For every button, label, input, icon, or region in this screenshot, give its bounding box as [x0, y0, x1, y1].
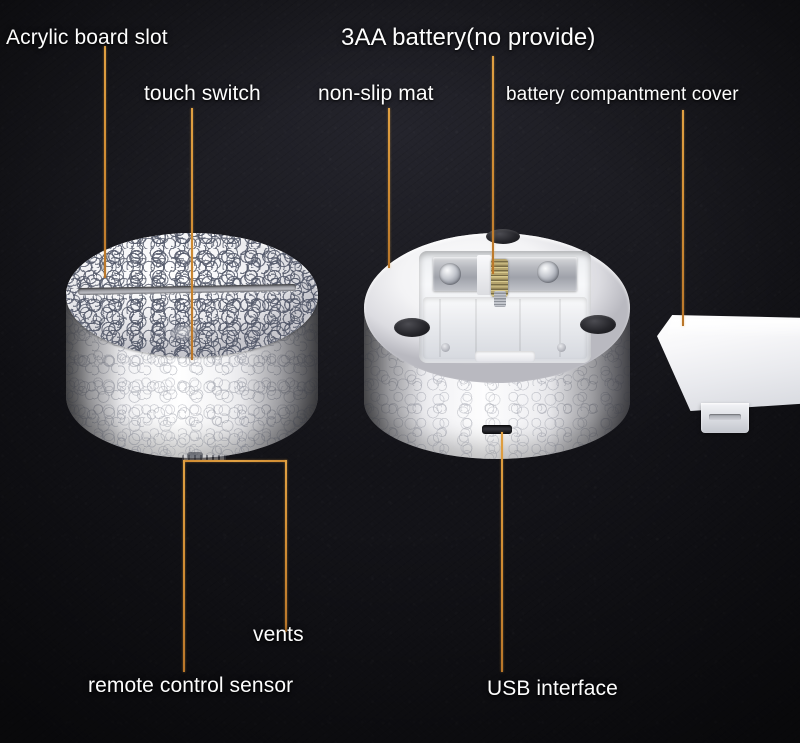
battery-compartment-cover-object [657, 315, 800, 455]
leader-line-vents [285, 460, 287, 632]
callout-label-remote-control-sensor: remote control sensor [88, 674, 293, 698]
battery-bay-divider [477, 255, 491, 295]
battery-spring-lower [494, 291, 506, 307]
callout-label-3aa-battery: 3AA battery(no provide) [341, 24, 595, 52]
remote-control-sensor-feature [187, 452, 203, 460]
leader-line-touch-switch [191, 108, 193, 360]
usb-interface-port [482, 425, 512, 434]
screw-boss [441, 343, 450, 352]
touch-switch-feature [170, 325, 198, 341]
leader-line-3aa-battery [492, 56, 494, 274]
diagram-canvas: Acrylic board slot touch switch 3AA batt… [0, 0, 800, 743]
leader-line-usb-interface [501, 432, 503, 672]
leader-line-remote-control-sensor [183, 460, 185, 672]
battery-terminal-contact [439, 263, 461, 285]
callout-label-usb-interface: USB interface [487, 677, 618, 701]
non-slip-mat-pad [394, 318, 430, 337]
non-slip-mat-pad [580, 315, 616, 334]
battery-bay-rib [519, 299, 521, 357]
cover-latch-notch [475, 351, 535, 362]
callout-label-battery-compartment-cover: battery compantment cover [506, 84, 739, 106]
callout-label-vents: vents [253, 623, 304, 647]
callout-label-non-slip-mat: non-slip mat [318, 82, 434, 106]
callout-label-acrylic-board-slot: Acrylic board slot [6, 26, 168, 50]
leader-bracket-vents-top [183, 460, 287, 462]
callout-label-touch-switch: touch switch [144, 82, 261, 106]
battery-bay-rib [475, 299, 477, 357]
battery-terminal-contact [537, 261, 559, 283]
battery-compartment-bay [419, 251, 591, 363]
leader-line-non-slip-mat [388, 108, 390, 268]
leader-line-battery-compartment-cover [682, 110, 684, 326]
cover-tab-slot [709, 414, 741, 420]
lamp-base-inverted [356, 233, 638, 471]
screw-boss [557, 343, 566, 352]
lamp-base-bottom-rim [364, 233, 630, 383]
leader-line-acrylic-board-slot [104, 46, 106, 278]
